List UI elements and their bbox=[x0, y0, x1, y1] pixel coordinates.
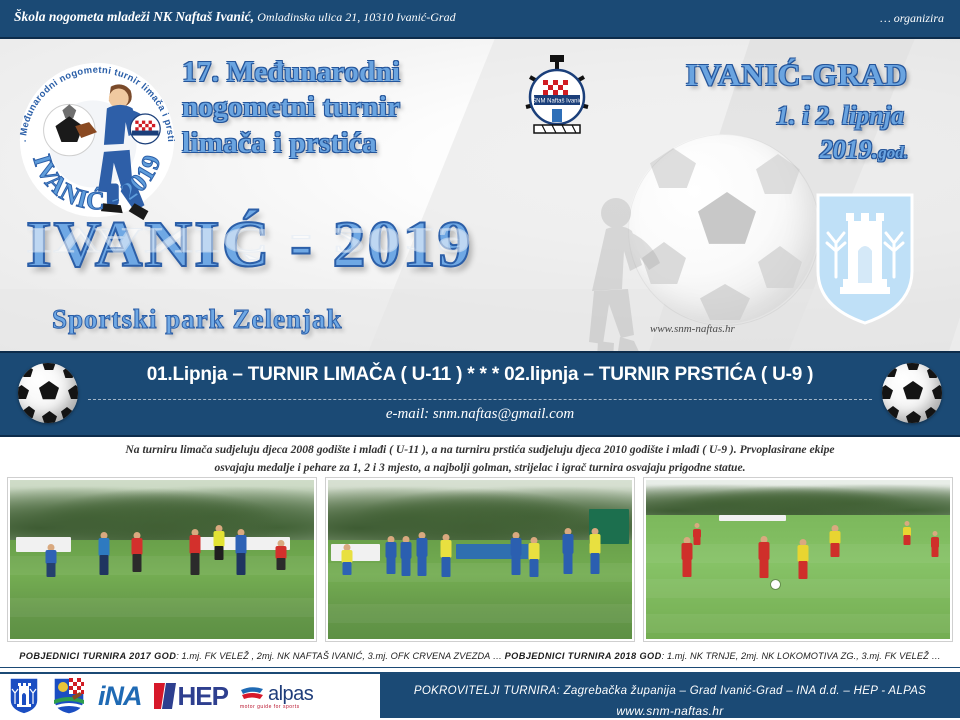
schedule-headline: 01.Lipnja – TURNIR LIMAČA ( U-11 ) * * *… bbox=[0, 364, 960, 386]
sponsors-banner: POKROVITELJI TURNIRA: Zagrebačka županij… bbox=[380, 672, 960, 720]
alpas-logo-tagline: motor guide for sports bbox=[240, 704, 300, 710]
description-line-1: Na turniru limača sudjeluju djeca 2008 g… bbox=[26, 441, 934, 459]
main-title-line-3: limača i prstića bbox=[182, 126, 542, 161]
grad-ivanic-grad-logo-icon bbox=[8, 676, 40, 716]
ina-logo-icon: iNA bbox=[98, 676, 142, 716]
winners-2017-text: : 1.mj. FK VELEŽ , 2mj. NK NAFTAŠ IVANIĆ… bbox=[176, 651, 502, 661]
main-title: 17. Međunarodni nogometni turnir limača … bbox=[182, 55, 542, 161]
tournament-poster: Škola nogometa mladeži NK Naftaš Ivanić,… bbox=[0, 0, 960, 720]
alpas-logo-text: alpas bbox=[268, 683, 313, 706]
photo-2 bbox=[326, 478, 634, 641]
alpas-logo-icon: alpas motor guide for sports bbox=[240, 676, 313, 716]
city-title: IVANIĆ-GRAD bbox=[686, 57, 908, 93]
description-line-2: osvajaju medalje i pehare za 1, 2 i 3 mj… bbox=[26, 459, 934, 477]
photo-3 bbox=[644, 478, 952, 641]
ina-logo-text: iNA bbox=[98, 681, 142, 712]
venue-label: Sportski park Zelenjak bbox=[52, 304, 343, 335]
winners-2017-label: POBJEDNICI TURNIRA 2017 GOD bbox=[19, 651, 176, 661]
main-title-line-2: nogometni turnir bbox=[182, 90, 542, 125]
soccer-ball-right-icon bbox=[882, 363, 942, 423]
event-wordmark-reflection: IVANIĆ - 2019 bbox=[26, 219, 473, 261]
photo-1 bbox=[8, 478, 316, 641]
main-title-line-1: 17. Međunarodni bbox=[182, 55, 542, 90]
past-winners-line: POBJEDNICI TURNIRA 2017 GOD: 1.mj. FK VE… bbox=[0, 648, 960, 668]
date-line-1: 1. i 2. lipnja bbox=[776, 101, 904, 131]
date-year-suffix: god. bbox=[878, 143, 908, 162]
sponsor-logo-row: iNA HEP alpas motor guide for sports bbox=[8, 674, 313, 718]
sponsors-line: POKROVITELJI TURNIRA: Zagrebačka županij… bbox=[380, 681, 960, 701]
date-year: 2019. bbox=[820, 135, 879, 164]
tournament-round-logo-icon: 17. Međunarodni nogometni turnir limača … bbox=[8, 49, 186, 227]
hep-logo-text: HEP bbox=[178, 681, 228, 712]
schedule-banner: 01.Lipnja – TURNIR LIMAČA ( U-11 ) * * *… bbox=[0, 351, 960, 437]
organizes-label: … organizira bbox=[880, 11, 944, 26]
organizer-address: Omladinska ulica 21, 10310 Ivanić-Grad bbox=[257, 10, 455, 24]
hep-logo-icon: HEP bbox=[154, 676, 228, 716]
zagrebacka-zupanija-logo-icon bbox=[52, 676, 86, 716]
winners-2018-text: : 1.mj. NK TRNJE, 2mj. NK LOKOMOTIVA ZG.… bbox=[662, 651, 941, 661]
date-line-2: 2019.god. bbox=[820, 135, 908, 165]
sponsors-footer: iNA HEP alpas motor guide for sports bbox=[0, 672, 960, 720]
description-text: Na turniru limača sudjeluju djeca 2008 g… bbox=[0, 438, 960, 476]
hero-website-label: www.snm-naftas.hr bbox=[650, 323, 735, 335]
hero-section: 17. Međunarodni nogometni turnir limača … bbox=[0, 39, 960, 351]
photo-gallery bbox=[8, 478, 952, 641]
winners-2018-label: POBJEDNICI TURNIRA 2018 GOD bbox=[505, 651, 662, 661]
organizer-name: Škola nogometa mladeži NK Naftaš Ivanić, bbox=[14, 9, 254, 24]
contact-email[interactable]: e-mail: snm.naftas@gmail.com bbox=[0, 406, 960, 423]
organizer-text: Škola nogometa mladeži NK Naftaš Ivanić,… bbox=[14, 9, 456, 25]
organizer-bar: Škola nogometa mladeži NK Naftaš Ivanić,… bbox=[0, 0, 960, 39]
city-coat-of-arms-icon bbox=[810, 189, 920, 329]
banner-divider bbox=[88, 399, 872, 400]
